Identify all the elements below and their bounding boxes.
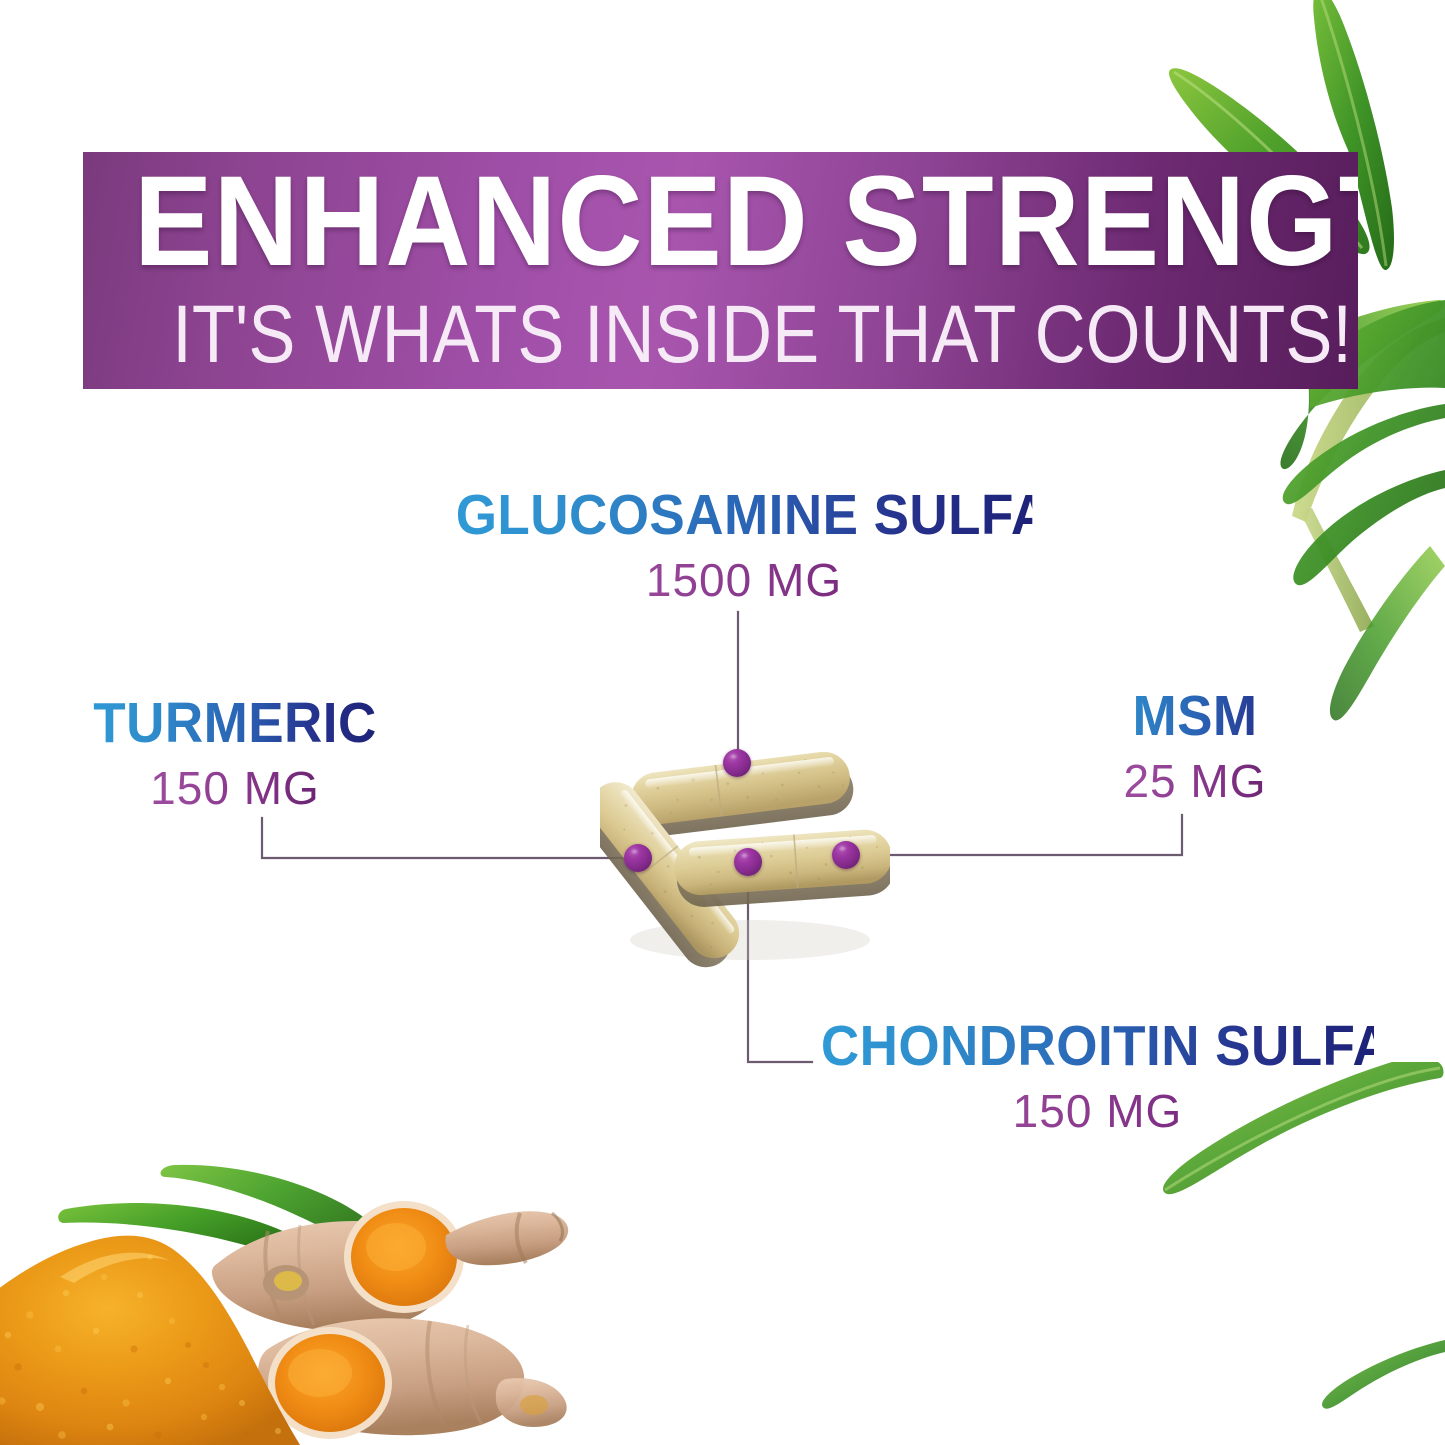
ingredient-name-glucosamine: GLUCOSAMINE SULFATE xyxy=(456,487,1033,544)
ingredient-dose-turmeric: 150 MG xyxy=(80,765,390,811)
infographic-canvas: ENHANCED STRENGTH IT'S WHATS INSIDE THAT… xyxy=(0,0,1445,1445)
callout-dot-chondroitin xyxy=(734,848,762,876)
ingredient-dose-msm: 25 MG xyxy=(1055,758,1335,804)
leader-line-msm xyxy=(856,815,1182,855)
ingredient-name-turmeric: TURMERIC xyxy=(91,695,379,752)
ingredient-dose-chondroitin: 150 MG xyxy=(800,1088,1395,1134)
banner-title: ENHANCED STRENGTH xyxy=(134,158,1307,286)
banner: ENHANCED STRENGTH IT'S WHATS INSIDE THAT… xyxy=(83,152,1358,389)
turmeric-decoration-bottom-left xyxy=(0,1135,600,1445)
banner-subtitle: IT'S WHATS INSIDE THAT COUNTS! xyxy=(172,294,1269,376)
callout-turmeric: TURMERIC 150 MG xyxy=(80,695,390,811)
callout-dot-glucosamine xyxy=(723,749,751,777)
ingredient-dose-glucosamine: 1500 MG xyxy=(434,557,1054,603)
callout-chondroitin: CHONDROITIN SULFATE 150 MG xyxy=(800,1018,1395,1134)
callout-dot-turmeric xyxy=(624,844,652,872)
callout-glucosamine: GLUCOSAMINE SULFATE 1500 MG xyxy=(434,487,1054,603)
callout-dot-msm xyxy=(832,841,860,869)
ingredient-name-msm: MSM xyxy=(1065,688,1325,745)
leader-line-turmeric xyxy=(262,818,628,858)
ingredient-name-chondroitin: CHONDROITIN SULFATE xyxy=(821,1018,1374,1075)
callout-msm: MSM 25 MG xyxy=(1055,688,1335,804)
